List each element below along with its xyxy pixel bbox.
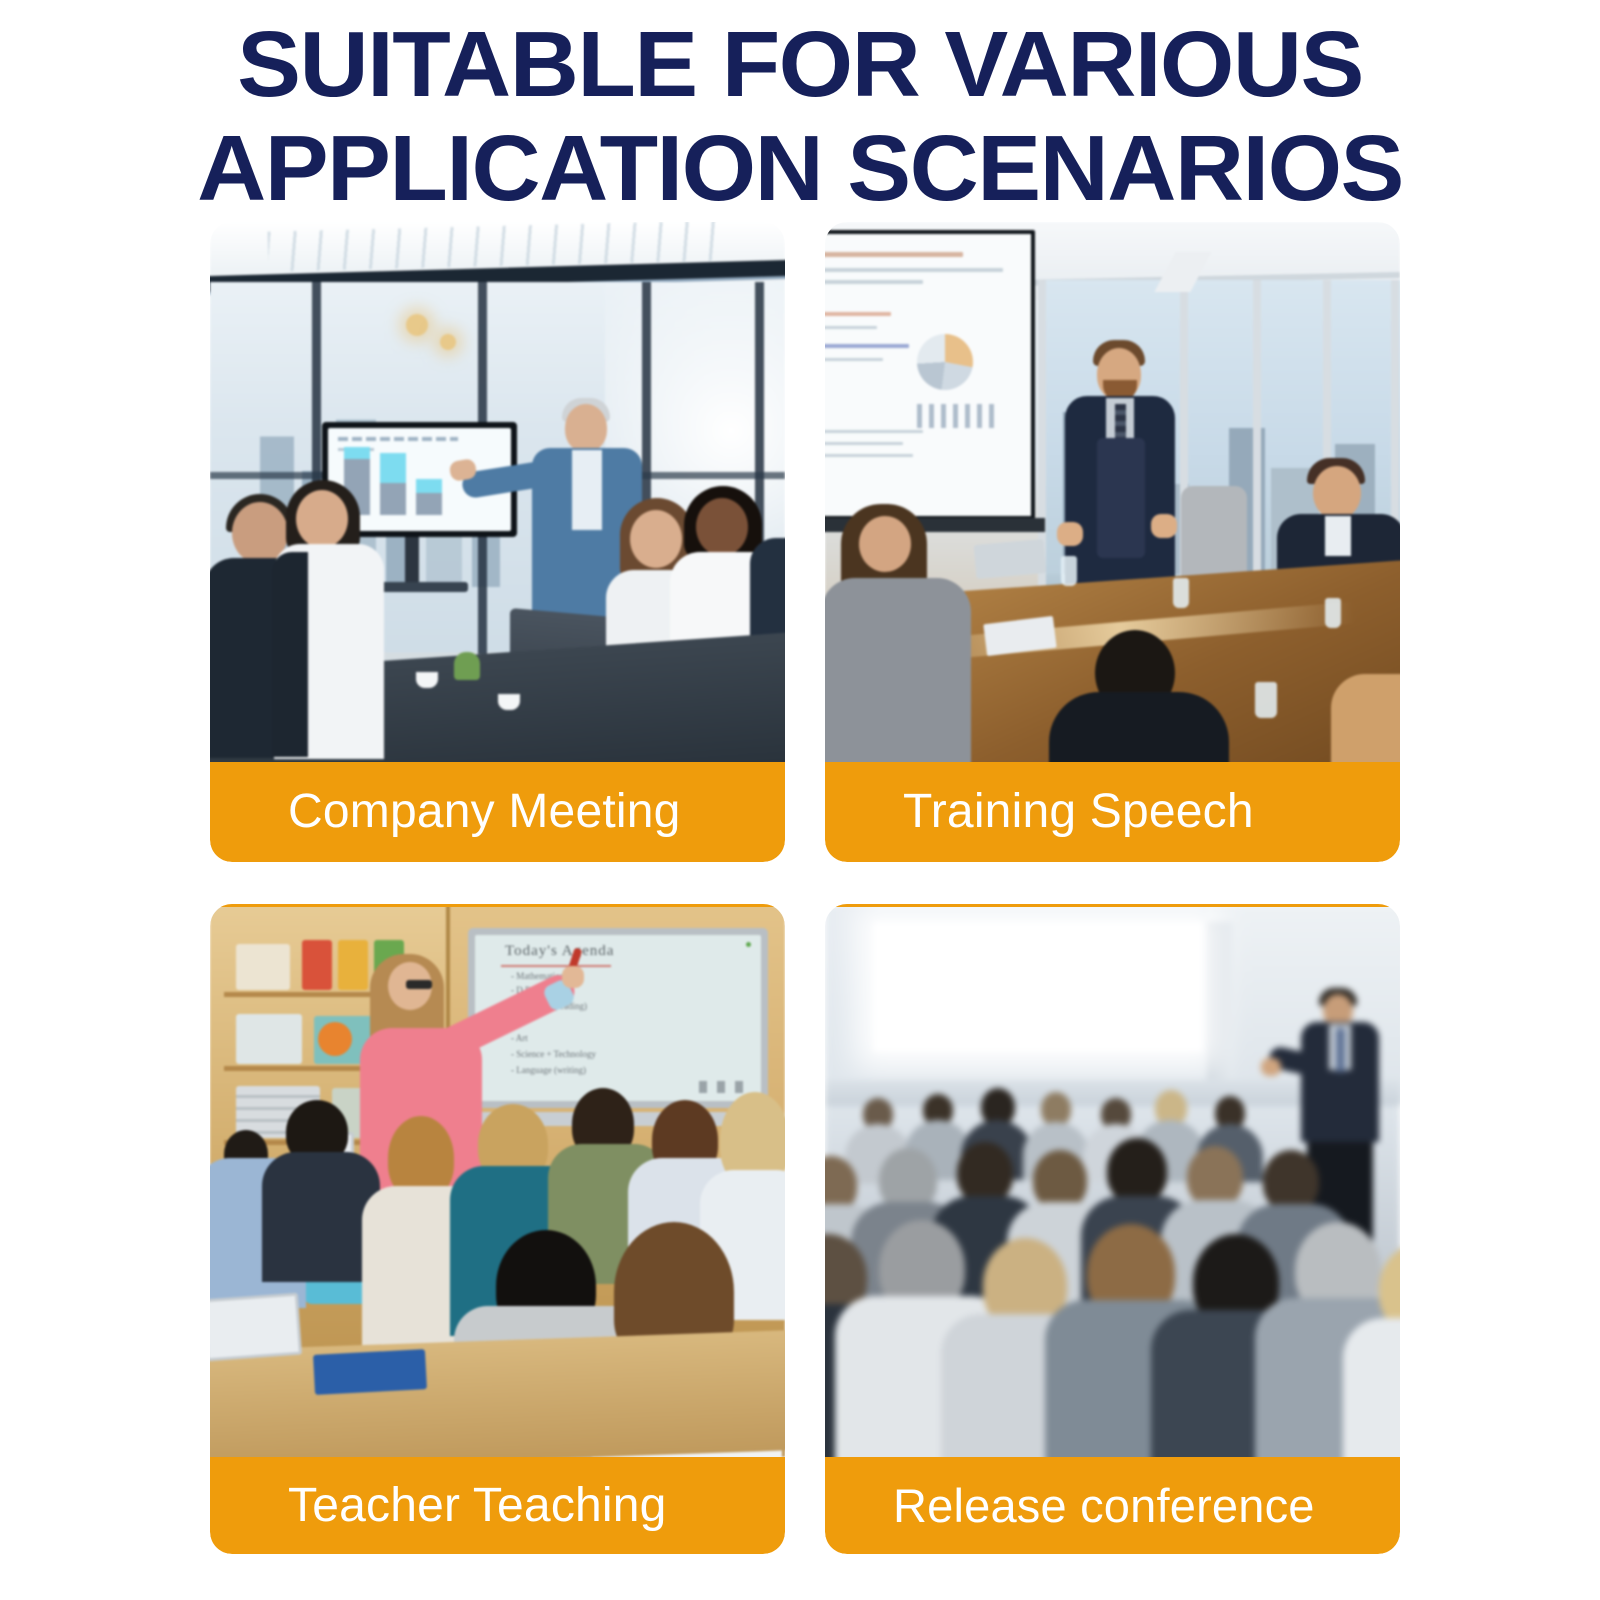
- scenario-caption-label: Release conference: [893, 1482, 1315, 1529]
- scenario-caption-label: Teacher Teaching: [288, 1482, 667, 1530]
- scenario-photo-teacher-teaching: Today's Agenda - Mathematics - D.P.A - L…: [210, 904, 785, 1457]
- whiteboard-heading: Today's Agenda: [505, 943, 614, 960]
- scenario-photo-company-meeting: [210, 222, 785, 762]
- slide-pie-chart: [917, 334, 973, 390]
- audience: [825, 1094, 1400, 1457]
- whiteboard-item: - Language (writing): [511, 1065, 586, 1075]
- scenario-photo-release-conference: [825, 904, 1400, 1457]
- promo-page: APPLICABLE TO SUITABLE FOR VARIOUS APPLI…: [0, 0, 1600, 1600]
- auditorium-projection-screen: [873, 922, 1203, 1052]
- scenario-card-teacher-teaching[interactable]: Today's Agenda - Mathematics - D.P.A - L…: [210, 904, 785, 1554]
- scenario-caption-bar: Training Speech: [825, 762, 1400, 862]
- whiteboard-status-dot: [746, 942, 751, 947]
- scenario-card-release-conference[interactable]: Release conference: [825, 904, 1400, 1554]
- whiteboard-item: - Science + Technology: [511, 1049, 596, 1059]
- scenario-caption-label: Training Speech: [903, 788, 1254, 836]
- clipped-headline-above: APPLICABLE TO: [0, 0, 1600, 7]
- projection-screen: [825, 230, 1035, 520]
- title-line-1: SUITABLE FOR VARIOUS: [0, 12, 1600, 116]
- scenario-caption-bar: Company Meeting: [210, 762, 785, 862]
- scenario-card-training-speech[interactable]: Training Speech: [825, 222, 1400, 862]
- whiteboard-item: - Art: [511, 1033, 528, 1043]
- scenario-card-company-meeting[interactable]: Company Meeting: [210, 222, 785, 862]
- scenario-caption-bar: Teacher Teaching: [210, 1457, 785, 1554]
- page-title: SUITABLE FOR VARIOUS APPLICATION SCENARI…: [0, 12, 1600, 220]
- slide-bar-chart: [917, 404, 1001, 428]
- scenario-grid: Company Meeting: [210, 222, 1400, 1552]
- scenario-photo-training-speech: [825, 222, 1400, 762]
- scenario-caption-label: Company Meeting: [288, 788, 681, 836]
- scenario-caption-bar: Release conference: [825, 1457, 1400, 1554]
- whiteboard-toolbar-icons: [699, 1081, 749, 1093]
- title-line-2: APPLICATION SCENARIOS: [0, 116, 1600, 220]
